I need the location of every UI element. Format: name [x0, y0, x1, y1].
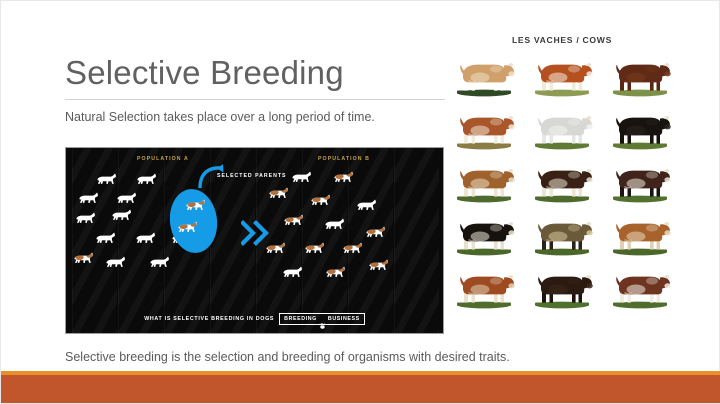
cow-illustration — [448, 158, 520, 203]
cow-illustration — [526, 211, 598, 256]
title-area: Selective Breeding Natural Selection tak… — [65, 53, 447, 125]
cow-illustration — [526, 105, 598, 150]
bottom-caption: Selective breeding is the selection and … — [65, 349, 510, 365]
dog-silhouette — [176, 220, 198, 233]
slide: Selective Breeding Natural Selection tak… — [0, 0, 720, 404]
brand-name-second: BUSINESS — [328, 316, 360, 322]
cow-illustration — [526, 158, 598, 203]
cow-illustration — [448, 211, 520, 256]
cow-illustration — [526, 52, 598, 97]
cow-illustration — [526, 264, 598, 309]
cow-illustration — [448, 52, 520, 97]
selective-breeding-infographic: POPULATION A POPULATION B SELECTED PAREN… — [65, 147, 444, 334]
brand-badge: BREEDING BUSINESS — [279, 313, 365, 325]
chevron-right-icon — [241, 220, 271, 246]
title-divider — [65, 99, 445, 100]
cow-illustration — [448, 105, 520, 150]
dog-silhouette — [184, 198, 206, 211]
cow-illustration — [604, 52, 676, 97]
cow-illustration — [448, 264, 520, 309]
cow-poster: LES VACHES / COWS — [448, 35, 676, 309]
subtitle: Natural Selection takes place over a lon… — [65, 109, 447, 125]
cow-illustration — [604, 264, 676, 309]
brand-name-first: BREEDING — [284, 316, 317, 322]
infographic-footer: WHAT IS SELECTIVE BREEDING IN DOGS BREED… — [66, 313, 443, 325]
cow-grid — [448, 52, 676, 309]
paw-icon — [319, 316, 326, 322]
cow-illustration — [604, 211, 676, 256]
infographic-caption: WHAT IS SELECTIVE BREEDING IN DOGS — [144, 316, 274, 322]
page-title: Selective Breeding — [65, 53, 447, 93]
selected-parents-label: SELECTED PARENTS — [217, 173, 287, 179]
cow-poster-title: LES VACHES / COWS — [448, 35, 676, 45]
cow-illustration — [604, 105, 676, 150]
accent-bar — [1, 375, 720, 403]
cow-illustration — [604, 158, 676, 203]
